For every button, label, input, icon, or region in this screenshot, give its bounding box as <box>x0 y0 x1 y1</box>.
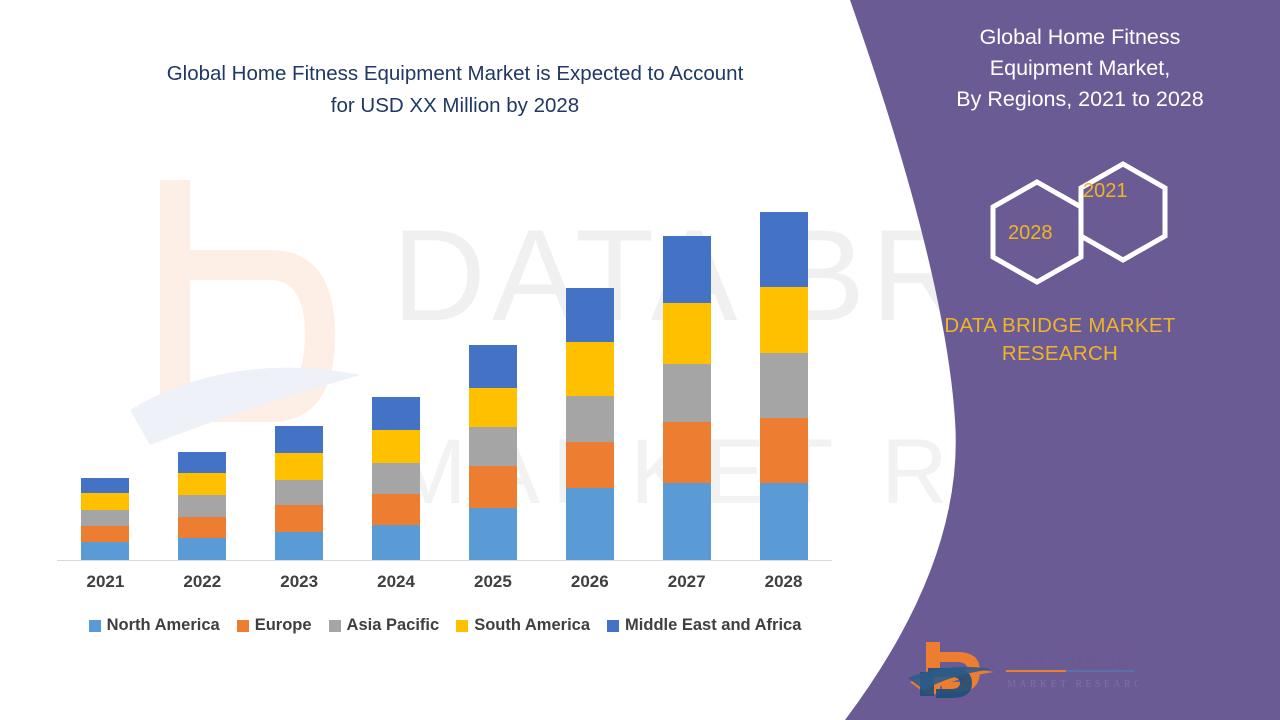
bar-2026 <box>566 288 614 560</box>
bar-segment <box>275 532 323 560</box>
bar-segment <box>663 422 711 483</box>
dbmr-logo: DATA BRIDGE MARKET RESEARCH <box>908 638 1138 700</box>
hexagon-2021-shape <box>1081 164 1165 260</box>
x-tick-2021: 2021 <box>65 572 145 592</box>
x-tick-2024: 2024 <box>356 572 436 592</box>
bar-segment <box>566 342 614 396</box>
bar-segment <box>469 466 517 508</box>
bar-segment <box>760 212 808 287</box>
bar-segment <box>663 364 711 422</box>
bar-segment <box>372 494 420 525</box>
bar-segment <box>663 236 711 303</box>
legend-swatch-icon <box>607 620 619 632</box>
legend-item[interactable]: North America <box>89 616 220 635</box>
brand-name-line-2: RESEARCH <box>860 340 1260 368</box>
bar-segment <box>566 442 614 488</box>
bar-segment <box>275 453 323 480</box>
legend-swatch-icon <box>329 620 341 632</box>
bar-2023 <box>275 426 323 560</box>
bar-segment <box>372 463 420 494</box>
bar-2027 <box>663 236 711 560</box>
bar-segment <box>469 427 517 466</box>
bar-segment <box>372 397 420 430</box>
legend-label: Middle East and Africa <box>625 616 801 635</box>
brand-name: DATA BRIDGE MARKET RESEARCH <box>860 312 1260 368</box>
bar-segment <box>178 495 226 517</box>
svg-text:DATA BRIDGE: DATA BRIDGE <box>1006 649 1138 670</box>
hexagon-badges: 2021 2028 <box>975 160 1185 285</box>
x-tick-2028: 2028 <box>744 572 824 592</box>
bar-segment <box>81 510 129 526</box>
x-tick-2022: 2022 <box>162 572 242 592</box>
bar-segment <box>566 288 614 342</box>
chart-title: Global Home Fitness Equipment Market is … <box>60 58 850 122</box>
legend-swatch-icon <box>456 620 468 632</box>
bar-2025 <box>469 345 517 560</box>
panel-title: Global Home Fitness Equipment Market, By… <box>895 22 1265 115</box>
stacked-bar-chart <box>57 160 832 560</box>
legend-item[interactable]: Middle East and Africa <box>607 616 801 635</box>
bar-segment <box>760 418 808 483</box>
panel-title-line-2: Equipment Market, <box>895 53 1265 84</box>
x-axis-line <box>57 560 832 561</box>
bar-segment <box>760 483 808 560</box>
panel-title-line-1: Global Home Fitness <box>895 22 1265 53</box>
legend-item[interactable]: South America <box>456 616 590 635</box>
bar-2021 <box>81 478 129 560</box>
bar-segment <box>81 526 129 542</box>
bar-segment <box>469 345 517 388</box>
bar-segment <box>275 480 323 505</box>
bar-segment <box>760 353 808 418</box>
x-tick-2023: 2023 <box>259 572 339 592</box>
legend-label: Europe <box>255 616 312 635</box>
legend-item[interactable]: Europe <box>237 616 312 635</box>
legend-label: South America <box>474 616 590 635</box>
bar-segment <box>469 388 517 427</box>
bar-segment <box>469 508 517 560</box>
bar-segment <box>81 493 129 510</box>
bar-segment <box>178 517 226 538</box>
bar-2024 <box>372 397 420 560</box>
brand-name-line-1: DATA BRIDGE MARKET <box>860 312 1260 340</box>
bar-segment <box>663 483 711 560</box>
bar-segment <box>81 478 129 493</box>
brand-panel: Global Home Fitness Equipment Market, By… <box>820 0 1280 720</box>
bar-segment <box>566 488 614 560</box>
x-axis-tick-labels: 20212022202320242025202620272028 <box>42 572 847 598</box>
bar-segment <box>663 303 711 364</box>
dbmr-logo-icon: DATA BRIDGE MARKET RESEARCH <box>908 638 1138 700</box>
bar-segment <box>81 542 129 560</box>
x-tick-2025: 2025 <box>453 572 533 592</box>
chart-title-line-1: Global Home Fitness Equipment Market is … <box>60 58 850 90</box>
panel-title-line-3: By Regions, 2021 to 2028 <box>895 84 1265 115</box>
svg-text:MARKET RESEARCH: MARKET RESEARCH <box>1007 679 1138 690</box>
bar-segment <box>566 396 614 442</box>
bar-segment <box>275 426 323 453</box>
bar-segment <box>275 505 323 532</box>
hexagon-label-2028: 2028 <box>1008 222 1053 245</box>
x-tick-2026: 2026 <box>550 572 630 592</box>
legend-label: Asia Pacific <box>347 616 440 635</box>
x-tick-2027: 2027 <box>647 572 727 592</box>
bar-2028 <box>760 212 808 560</box>
legend-item[interactable]: Asia Pacific <box>329 616 440 635</box>
legend-swatch-icon <box>89 620 101 632</box>
bar-segment <box>178 538 226 560</box>
bar-segment <box>760 287 808 353</box>
bar-2022 <box>178 452 226 560</box>
chart-plot-area <box>42 160 832 564</box>
hexagon-outlines-icon <box>975 160 1185 285</box>
hexagon-label-2021: 2021 <box>1083 180 1128 203</box>
legend-swatch-icon <box>237 620 249 632</box>
chart-legend: North AmericaEuropeAsia PacificSouth Ame… <box>50 616 840 635</box>
chart-title-line-2: for USD XX Million by 2028 <box>60 90 850 122</box>
bar-segment <box>178 473 226 495</box>
bar-segment <box>178 452 226 473</box>
bar-segment <box>372 525 420 560</box>
bar-segment <box>372 430 420 463</box>
legend-label: North America <box>107 616 220 635</box>
panel-content: Global Home Fitness Equipment Market, By… <box>820 0 1280 720</box>
